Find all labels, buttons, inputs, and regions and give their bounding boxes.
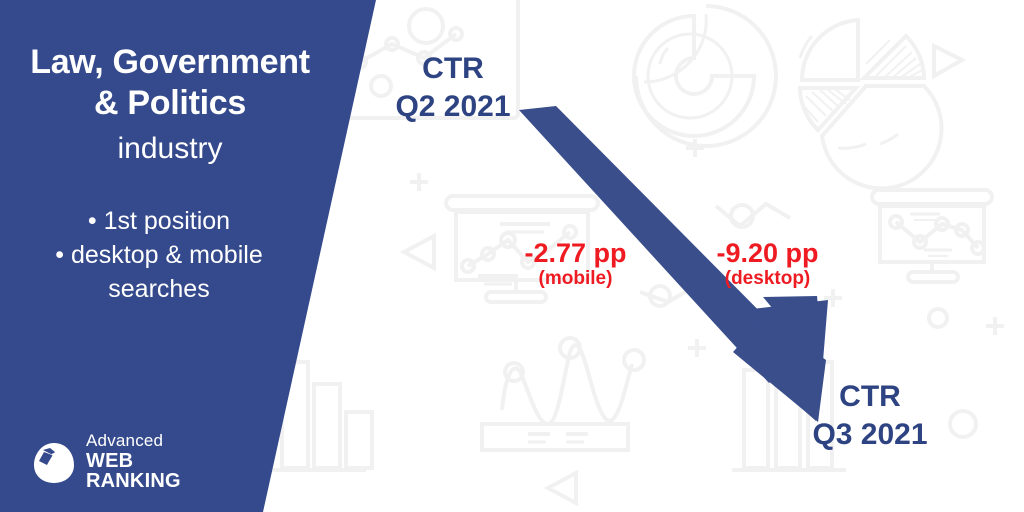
delta-mobile-device: (mobile) [508, 267, 643, 292]
ctr-end-label: CTR Q3 2021 [800, 378, 940, 455]
logo[interactable]: Advanced WEB RANKING [28, 432, 228, 490]
delta-mobile: -2.77 pp (mobile) [508, 239, 643, 292]
delta-desktop: -9.20 pp (desktop) [700, 239, 835, 292]
ctr-end-metric: CTR [800, 378, 940, 416]
ctr-end-period: Q3 2021 [800, 416, 940, 454]
ctr-start-metric: CTR [388, 50, 518, 88]
list-item: searches [0, 272, 318, 306]
criteria-list: • 1st position • desktop & mobile search… [0, 204, 318, 306]
headline-line-2: & Politics [0, 83, 340, 124]
globe-icon [28, 435, 80, 487]
delta-desktop-value: -9.20 pp [700, 239, 835, 267]
page-subtitle: industry [0, 131, 340, 167]
page-title: Law, Government & Politics [0, 42, 340, 125]
ctr-start-period: Q2 2021 [388, 88, 518, 126]
ctr-start-label: CTR Q2 2021 [388, 50, 518, 127]
logo-bottom-text: WEB RANKING [86, 451, 228, 491]
list-item: • 1st position [0, 204, 318, 238]
delta-mobile-value: -2.77 pp [508, 239, 643, 267]
delta-desktop-device: (desktop) [700, 267, 835, 292]
logo-top-text: Advanced [86, 432, 228, 449]
headline-line-1: Law, Government [0, 42, 340, 83]
logo-text: Advanced WEB RANKING [86, 432, 228, 491]
infographic-canvas: Law, Government & Politics industry • 1s… [0, 0, 1024, 512]
list-item: • desktop & mobile [0, 238, 318, 272]
